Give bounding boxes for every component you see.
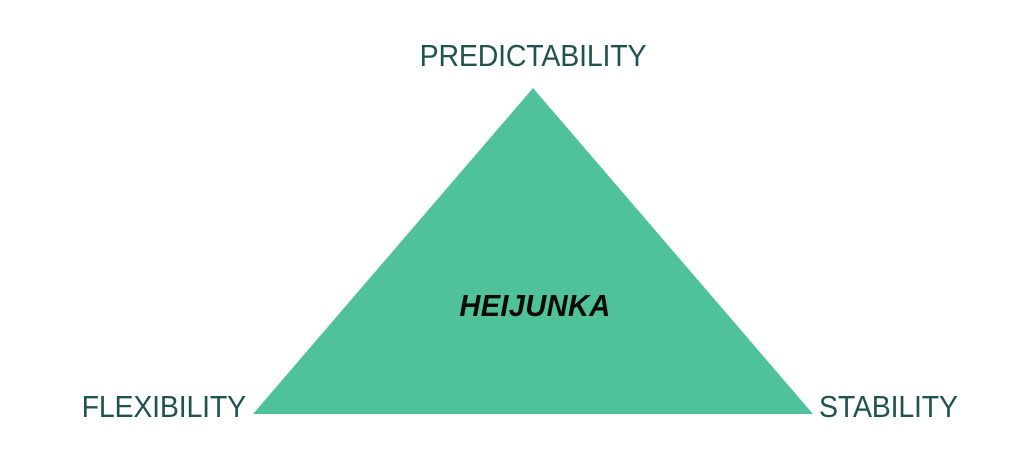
center-label-heijunka: HEIJUNKA (459, 290, 610, 321)
vertex-label-flexibility: FLEXIBILITY (82, 391, 246, 422)
diagram-canvas: PREDICTABILITY FLEXIBILITY STABILITY HEI… (0, 0, 1022, 451)
vertex-label-stability: STABILITY (819, 391, 958, 422)
vertex-label-predictability: PREDICTABILITY (420, 40, 647, 71)
triangle-polygon (253, 88, 813, 414)
